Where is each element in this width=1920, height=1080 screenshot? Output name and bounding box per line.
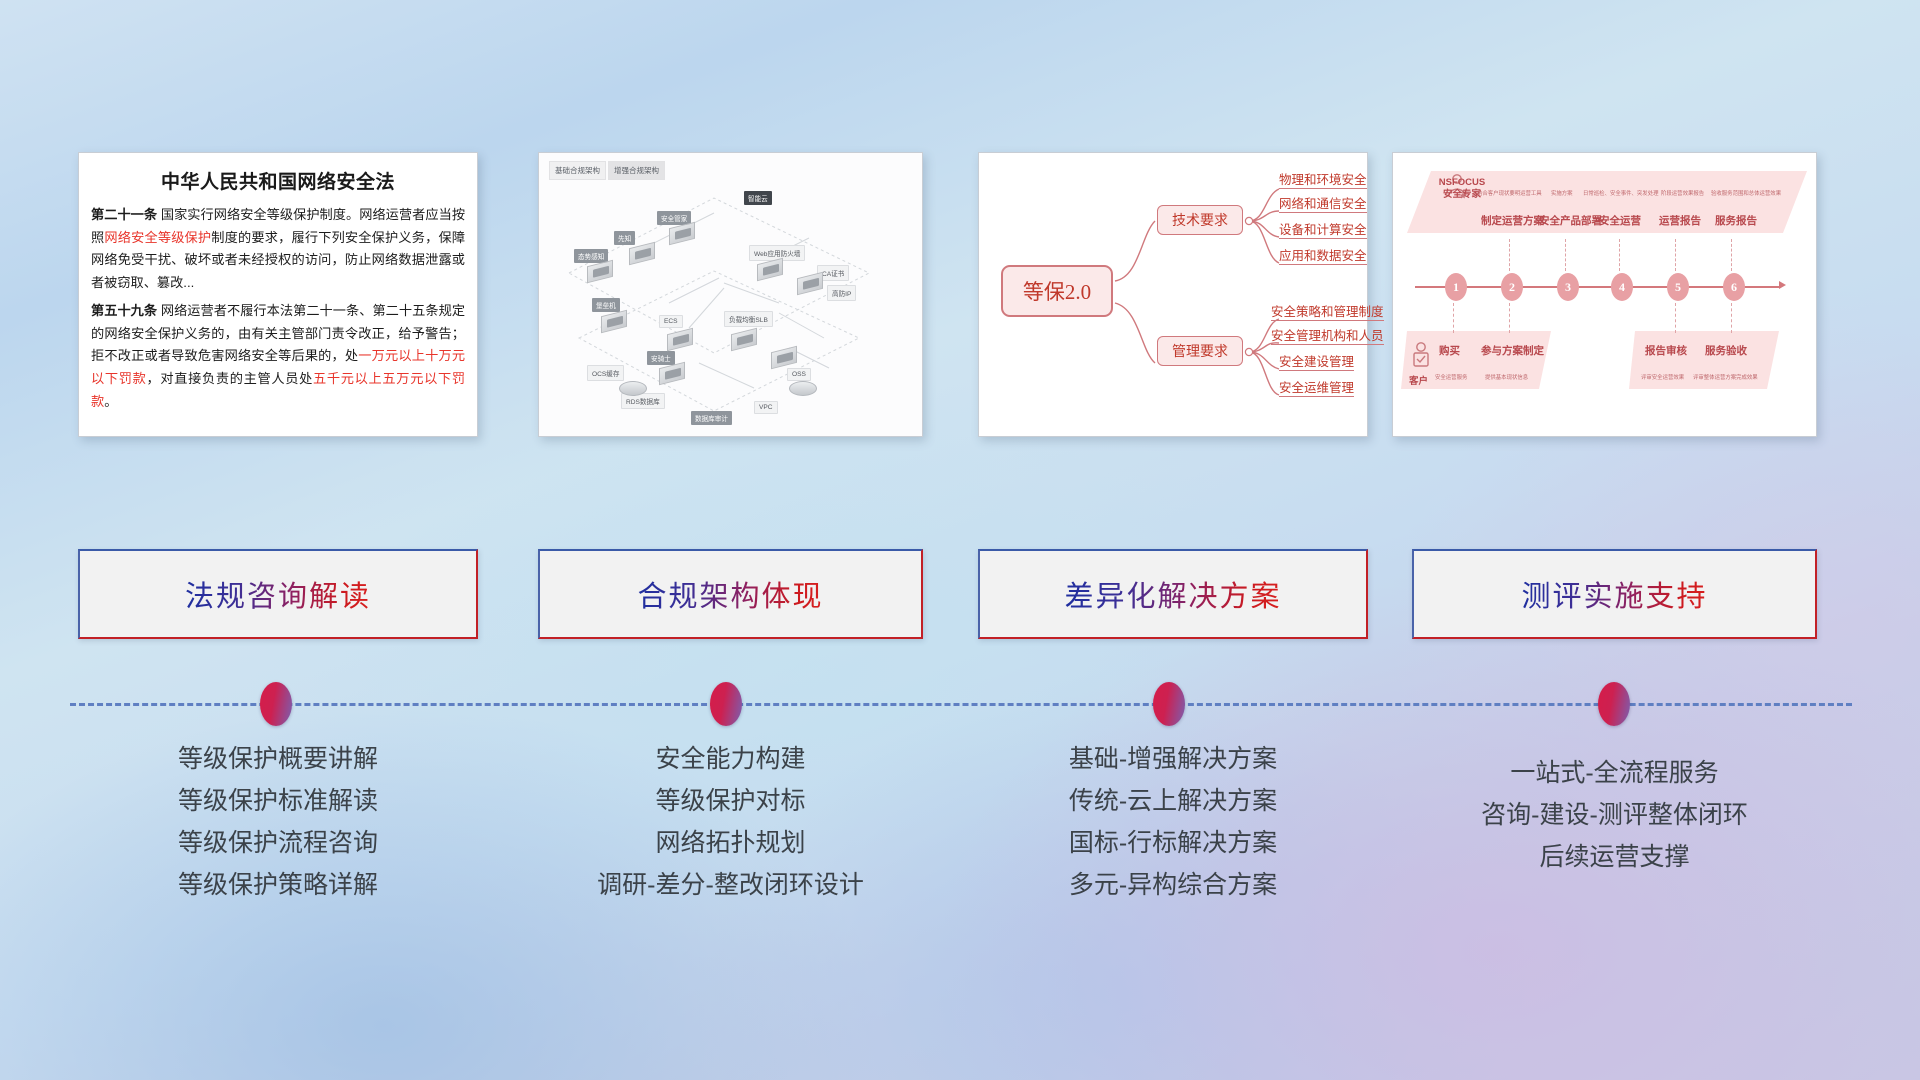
- node-oss: OSS: [787, 368, 811, 381]
- connector-dot-1: [260, 682, 292, 726]
- list-item: 后续运营支撑: [1412, 836, 1817, 878]
- section-list-4: 一站式-全流程服务 咨询-建设-测评整体闭环 后续运营支撑: [1412, 752, 1817, 878]
- timeline-bottom-sub-1: 安全运营服务: [1435, 373, 1467, 381]
- law-title: 中华人民共和国网络安全法: [79, 167, 477, 194]
- section-list-2: 安全能力构建 等级保护对标 网络拓扑规划 调研-差分-整改闭环设计: [538, 738, 923, 906]
- law-article-59-text3: 。: [104, 394, 117, 409]
- card-cybersecurity-law[interactable]: 中华人民共和国网络安全法 第二十一条 国家实行网络安全等级保护制度。网络运营者应…: [78, 152, 478, 437]
- timeline-top-sub-3: 日常巡检、安全事件、突发处理: [1583, 189, 1658, 197]
- timeline-dash-b4: [1731, 303, 1732, 333]
- customer-label: 客户: [1409, 373, 1428, 387]
- section-title-label-2: 合规架构体现: [637, 573, 823, 615]
- law-body: 第二十一条 国家实行网络安全等级保护制度。网络运营者应当按照网络安全等级保护制度…: [79, 204, 477, 413]
- timeline-top-main-3: 安全运营: [1599, 213, 1641, 228]
- timeline-bottom-main-2: 参与方案制定: [1481, 343, 1544, 358]
- list-item: 等级保护策略详解: [78, 864, 478, 906]
- expert-label-line1: NSFOCUS: [1431, 177, 1493, 189]
- architecture-diagram: 基础合规架构 增强合规架构 智能云 安全管家: [539, 153, 922, 436]
- timeline-top-sub-2: 实施方案: [1551, 189, 1573, 197]
- list-item: 国标-行标解决方案: [978, 822, 1368, 864]
- law-article-59-label: 第五十九条: [91, 303, 157, 318]
- law-article-59-text2: ，对直接负责的主管人员处: [147, 371, 314, 386]
- list-item: 等级保护概要讲解: [78, 738, 478, 780]
- mindmap-leaf-physical-env: 物理和环境安全: [1279, 173, 1367, 189]
- section-list-1: 等级保护概要讲解 等级保护标准解读 等级保护流程咨询 等级保护策略详解: [78, 738, 478, 906]
- mindmap-branch-management: 管理要求: [1157, 336, 1243, 366]
- node-situational-awareness: 态势感知: [574, 249, 608, 263]
- tab-basic-architecture[interactable]: 基础合规架构: [549, 161, 606, 180]
- timeline-dash-4: [1619, 239, 1620, 271]
- law-article-59: 第五十九条 网络运营者不履行本法第二十一条、第二十五条规定的网络安全保护义务的，…: [91, 300, 465, 414]
- section-title-label-3: 差异化解决方案: [1064, 573, 1281, 615]
- timeline-top-main-4: 运营报告: [1659, 213, 1701, 228]
- list-item: 等级保护标准解读: [78, 780, 478, 822]
- mindmap-root: 等保2.0: [1001, 265, 1113, 317]
- list-item: 传统-云上解决方案: [978, 780, 1368, 822]
- timeline-top-main-5: 服务报告: [1715, 213, 1757, 228]
- section-titles-row: 法规咨询解读 合规架构体现 差异化解决方案 测评实施支持: [0, 549, 1920, 641]
- mindmap-leaf-device-compute: 设备和计算安全: [1279, 223, 1367, 239]
- timeline-bottom-sub-2: 提供基本现状信息: [1485, 373, 1528, 381]
- timeline-step-2: 2: [1501, 273, 1523, 301]
- list-item: 等级保护对标: [538, 780, 923, 822]
- list-item: 调研-差分-整改闭环设计: [538, 864, 923, 906]
- section-title-label-4: 测评实施支持: [1521, 573, 1707, 615]
- connector-dot-3: [1153, 682, 1185, 726]
- connector-dashed-line: [70, 703, 1852, 706]
- timeline-bottom-main-4: 服务验收: [1705, 343, 1747, 358]
- node-slb: 负载均衡SLB: [724, 311, 773, 327]
- timeline-bottom-sub-4: 评审整体运营方案完成效果: [1693, 373, 1758, 381]
- timeline-dash-b1: [1453, 303, 1454, 333]
- mindmap-leaf-policy-system: 安全策略和管理制度: [1271, 305, 1384, 321]
- tab-enhanced-architecture[interactable]: 增强合规架构: [608, 161, 665, 180]
- timeline-bottom-sub-3: 评审安全运营效果: [1641, 373, 1684, 381]
- node-ecs: ECS: [659, 315, 683, 328]
- card-cloud-architecture[interactable]: 基础合规架构 增强合规架构 智能云 安全管家: [538, 152, 923, 437]
- node-server-guard: 安骑士: [647, 351, 675, 365]
- card-service-timeline[interactable]: NSFOCUS 安全专家 客户 1 2 3 4 5 6 结: [1392, 152, 1817, 437]
- timeline-top-sub-5: 验收服务范围和总体运营效果: [1711, 189, 1781, 197]
- architecture-connectors: [539, 153, 922, 436]
- node-vpc: VPC: [754, 401, 778, 414]
- mindmap: 等保2.0 技术要求 管理要求 物理和环境安全 网络和通信安全 设备和计算安全 …: [979, 153, 1367, 436]
- law-article-21-label: 第二十一条: [91, 207, 157, 222]
- timeline-top-sub-4: 阶段运营效果报告: [1661, 189, 1704, 197]
- mindmap-collapse-dot-mgmt: [1245, 348, 1252, 355]
- list-item: 咨询-建设-测评整体闭环: [1412, 794, 1817, 836]
- timeline-step-3: 3: [1557, 273, 1579, 301]
- list-item: 安全能力构建: [538, 738, 923, 780]
- section-title-box-4[interactable]: 测评实施支持: [1412, 549, 1817, 639]
- list-item: 一站式-全流程服务: [1412, 752, 1817, 794]
- customer-person-icon: [1409, 341, 1433, 371]
- timeline-dash-b2: [1509, 303, 1510, 333]
- node-smart-cloud: 智能云: [744, 191, 772, 205]
- timeline-step-5: 5: [1667, 273, 1689, 301]
- timeline-diagram: NSFOCUS 安全专家 客户 1 2 3 4 5 6 结: [1393, 153, 1816, 436]
- timeline-dash-b3: [1675, 303, 1676, 333]
- mindmap-leaf-app-data: 应用和数据安全: [1279, 249, 1367, 265]
- law-article-21: 第二十一条 国家实行网络安全等级保护制度。网络运营者应当按照网络安全等级保护制度…: [91, 204, 465, 295]
- list-item: 基础-增强解决方案: [978, 738, 1368, 780]
- mindmap-leaf-construction: 安全建设管理: [1279, 355, 1354, 371]
- timeline-top-sub-1: 结合客户现状要明运营工具: [1477, 189, 1542, 197]
- connector-dot-2: [710, 682, 742, 726]
- timeline-dash-3: [1565, 239, 1566, 271]
- mindmap-branch-technical: 技术要求: [1157, 205, 1243, 235]
- timeline-dash-6: [1731, 239, 1732, 271]
- timeline-dash-5: [1675, 239, 1676, 271]
- mindmap-leaf-org-personnel: 安全管理机构和人员: [1271, 329, 1384, 345]
- disc-icon-1: [619, 381, 647, 396]
- node-foresight: 先知: [614, 231, 635, 245]
- timeline-dash-2: [1509, 239, 1510, 271]
- timeline-arrow-icon: [1779, 281, 1786, 289]
- timeline-step-6: 6: [1723, 273, 1745, 301]
- list-item: 网络拓扑规划: [538, 822, 923, 864]
- section-title-label-1: 法规咨询解读: [185, 573, 371, 615]
- timeline-bottom-main-3: 报告审核: [1645, 343, 1687, 358]
- law-article-21-highlight: 网络安全等级保护: [104, 230, 211, 245]
- connector-dot-4: [1598, 682, 1630, 726]
- mindmap-leaf-operations: 安全运维管理: [1279, 381, 1354, 397]
- timeline-step-4: 4: [1611, 273, 1633, 301]
- section-title-box-3[interactable]: 差异化解决方案: [978, 549, 1368, 639]
- architecture-tabs[interactable]: 基础合规架构 增强合规架构: [549, 161, 665, 180]
- list-item: 多元-异构综合方案: [978, 864, 1368, 906]
- list-item: 等级保护流程咨询: [78, 822, 478, 864]
- node-ocs-cache: OCS缓存: [587, 365, 624, 381]
- card-mindmap-dengbao[interactable]: 等保2.0 技术要求 管理要求 物理和环境安全 网络和通信安全 设备和计算安全 …: [978, 152, 1368, 437]
- timeline-connector: [70, 682, 1852, 726]
- section-title-box-2[interactable]: 合规架构体现: [538, 549, 923, 639]
- node-bastion-host: 堡垒机: [592, 298, 620, 312]
- timeline-step-1: 1: [1445, 273, 1467, 301]
- timeline-top-main-2: 安全产品部署: [1539, 213, 1602, 228]
- timeline-bottom-main-1: 购买: [1439, 343, 1460, 358]
- section-list-3: 基础-增强解决方案 传统-云上解决方案 国标-行标解决方案 多元-异构综合方案: [978, 738, 1368, 906]
- disc-icon-2: [789, 381, 817, 396]
- mindmap-collapse-dot-tech: [1245, 217, 1252, 224]
- section-title-box-1[interactable]: 法规咨询解读: [78, 549, 478, 639]
- preview-cards-row: 中华人民共和国网络安全法 第二十一条 国家实行网络安全等级保护制度。网络运营者应…: [0, 152, 1920, 442]
- node-database-audit: 数据库审计: [691, 411, 732, 425]
- node-anti-ddos-ip: 高防IP: [827, 285, 856, 301]
- mindmap-leaf-network-comm: 网络和通信安全: [1279, 197, 1367, 213]
- timeline-top-main-1: 制定运营方案: [1481, 213, 1544, 228]
